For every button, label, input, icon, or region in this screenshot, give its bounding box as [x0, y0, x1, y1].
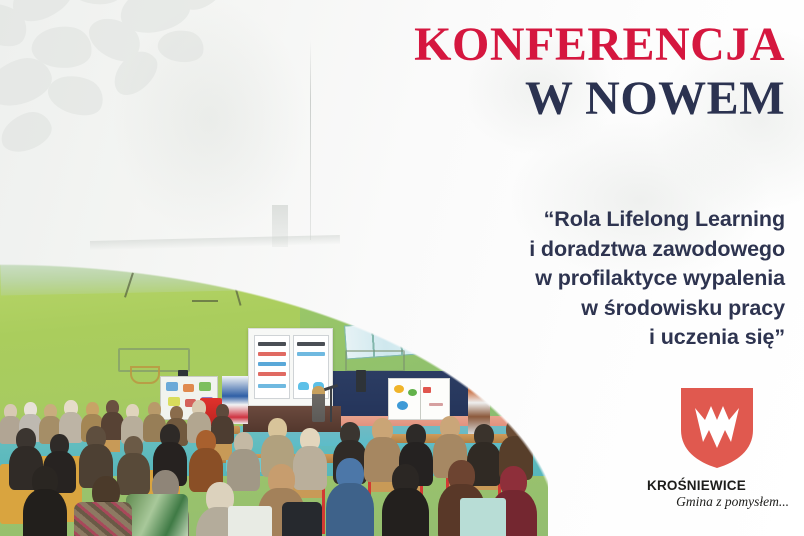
- quote-line-4: w środowisku pracy: [385, 294, 785, 324]
- title-line-konferencja: KONFERENCJA: [365, 18, 785, 72]
- shield-with-w-icon: [679, 386, 755, 470]
- quote-line-1: “Rola Lifelong Learning: [385, 205, 785, 235]
- basketball-hoop-left: [118, 348, 190, 372]
- flipchart-boards: [388, 378, 450, 420]
- presenter-figure: [312, 386, 325, 422]
- logo-municipality-name: KROŚNIEWICE: [645, 478, 795, 493]
- stage-platform: [243, 406, 341, 432]
- poster-title: KONFERENCJA W NOWEM: [365, 18, 785, 126]
- logo-tagline: Gmina z pomysłem...: [645, 494, 795, 510]
- krosniewice-logo: KROŚNIEWICE Gmina z pomysłem...: [645, 386, 795, 518]
- poster-quote: “Rola Lifelong Learning i doradztwa zawo…: [385, 205, 785, 353]
- quote-line-3: w profilaktyce wypalenia: [385, 264, 785, 294]
- quote-line-5: i uczenia się”: [385, 323, 785, 353]
- basketball-hoop-right: [345, 350, 405, 372]
- background-leaves-silhouette: [0, 0, 320, 194]
- title-line-w-nowem: W NOWEM: [365, 72, 785, 126]
- quote-line-2: i doradztwa zawodowego: [385, 235, 785, 265]
- conference-poster: KONFERENCJA W NOWEM “Rola Lifelong Learn…: [0, 0, 804, 536]
